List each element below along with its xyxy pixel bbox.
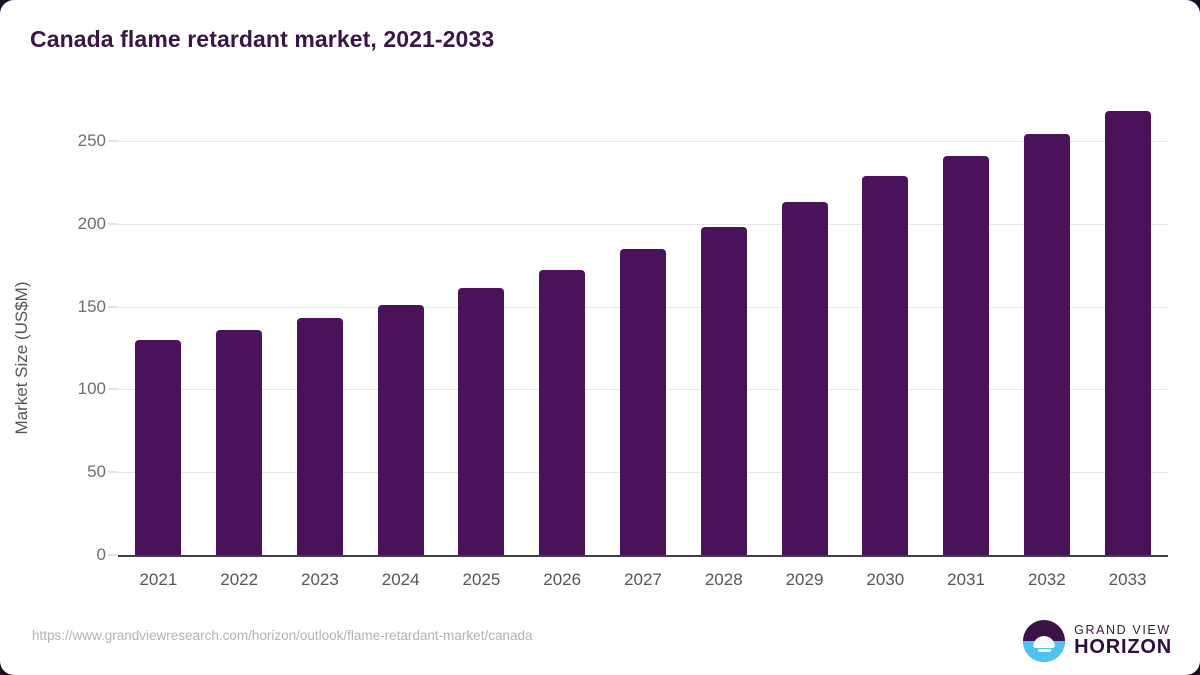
y-tick-label: 50	[36, 462, 106, 482]
x-tick-label-2021: 2021	[118, 570, 199, 590]
bar-2027[interactable]	[620, 249, 666, 555]
y-tick-mark	[108, 555, 118, 556]
logo-line-2: HORIZON	[1074, 637, 1172, 658]
y-tick-label: 200	[36, 214, 106, 234]
y-tick-label: 0	[36, 545, 106, 565]
bar-slot	[683, 141, 764, 555]
bar-2033[interactable]	[1105, 111, 1151, 555]
y-tick-mark	[108, 141, 118, 142]
y-tick-label: 250	[36, 131, 106, 151]
bar-slot	[926, 141, 1007, 555]
y-tick-label: 150	[36, 297, 106, 317]
bar-2021[interactable]	[135, 340, 181, 555]
x-tick-label-2032: 2032	[1006, 570, 1087, 590]
grand-view-horizon-logo[interactable]: GRAND VIEW HORIZON	[1023, 620, 1172, 662]
x-tick-label-2025: 2025	[441, 570, 522, 590]
chart-page: Canada flame retardant market, 2021-2033…	[0, 0, 1200, 675]
y-tick-mark	[108, 472, 118, 473]
bar-2023[interactable]	[297, 318, 343, 555]
logo-ray-1	[1034, 645, 1054, 647]
x-tick-label-2022: 2022	[199, 570, 280, 590]
source-url[interactable]: https://www.grandviewresearch.com/horizo…	[32, 628, 532, 643]
bar-series	[118, 141, 1168, 555]
logo-text: GRAND VIEW HORIZON	[1074, 624, 1172, 658]
bar-slot	[360, 141, 441, 555]
x-tick-label-2031: 2031	[926, 570, 1007, 590]
bar-slot	[441, 141, 522, 555]
bar-slot	[1006, 141, 1087, 555]
bar-2031[interactable]	[943, 156, 989, 555]
bar-2026[interactable]	[539, 270, 585, 555]
x-tick-label-2023: 2023	[280, 570, 361, 590]
bar-2024[interactable]	[378, 305, 424, 555]
bar-2022[interactable]	[216, 330, 262, 555]
y-tick-mark	[108, 306, 118, 307]
x-tick-label-2030: 2030	[845, 570, 926, 590]
x-tick-label-2033: 2033	[1087, 570, 1168, 590]
bar-2025[interactable]	[458, 288, 504, 555]
bar-slot	[603, 141, 684, 555]
x-tick-label-2026: 2026	[522, 570, 603, 590]
bar-2028[interactable]	[701, 227, 747, 555]
bar-slot	[764, 141, 845, 555]
bar-slot	[522, 141, 603, 555]
x-tick-label-2028: 2028	[683, 570, 764, 590]
bar-slot	[845, 141, 926, 555]
x-axis-line	[118, 555, 1168, 557]
bar-slot	[280, 141, 361, 555]
logo-ray-2	[1038, 649, 1051, 651]
bar-2030[interactable]	[862, 176, 908, 555]
y-tick-label: 100	[36, 379, 106, 399]
bar-slot	[1087, 141, 1168, 555]
bar-2029[interactable]	[782, 202, 828, 555]
bar-slot	[199, 141, 280, 555]
y-tick-mark	[108, 389, 118, 390]
x-tick-label-2029: 2029	[764, 570, 845, 590]
x-axis-labels: 2021202220232024202520262027202820292030…	[118, 570, 1168, 590]
bar-2032[interactable]	[1024, 134, 1070, 555]
y-axis-title: Market Size (US$M)	[12, 148, 32, 568]
x-tick-label-2024: 2024	[360, 570, 441, 590]
bar-slot	[118, 141, 199, 555]
horizon-sun-circle-icon	[1023, 620, 1065, 662]
y-tick-mark	[108, 223, 118, 224]
x-tick-label-2027: 2027	[603, 570, 684, 590]
